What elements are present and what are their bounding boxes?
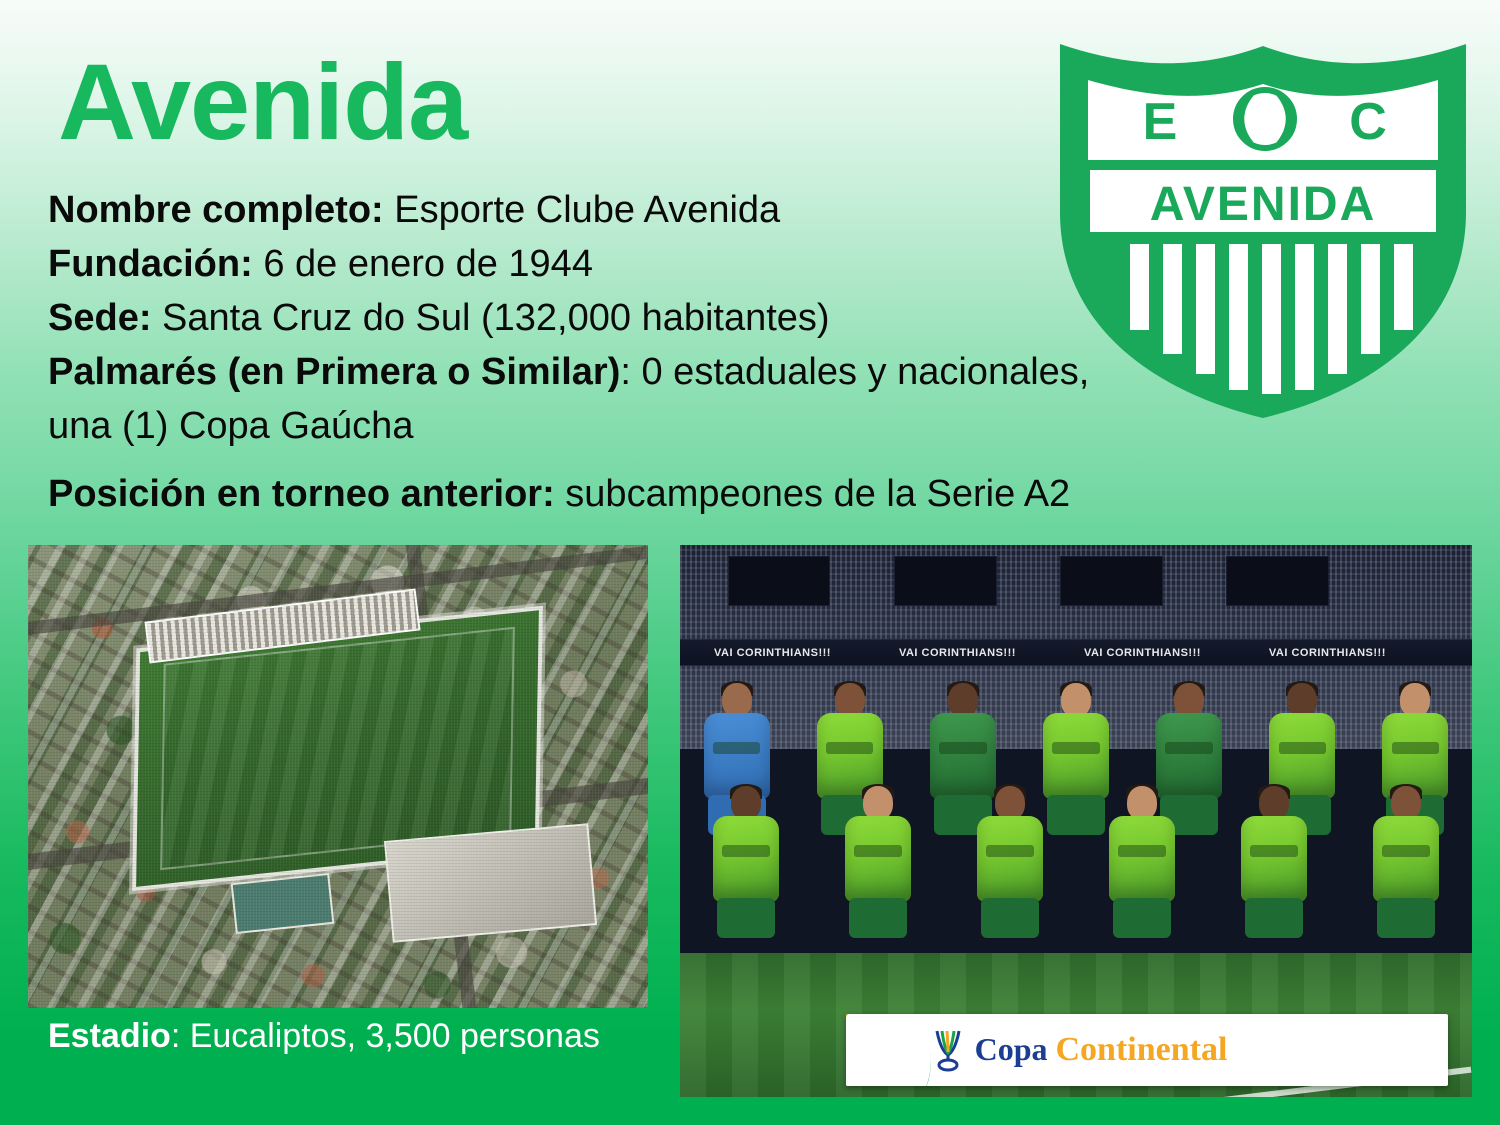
- info-value-sede: Santa Cruz do Sul (132,000 habitantes): [162, 297, 830, 339]
- info-value-nombre-completo: Esporte Clube Avenida: [394, 189, 780, 231]
- info-row-posicion: Posición en torneo anterior: subcampeone…: [48, 467, 1108, 521]
- aerial-view: [28, 545, 648, 1008]
- match-scene: VAI CORINTHIANS!!! VAI CORINTHIANS!!! VA…: [680, 545, 1472, 1097]
- stadium-caption-label: Estadio: [48, 1017, 171, 1055]
- banner-word-copa: Copa: [975, 1031, 1048, 1068]
- lineup-front-row: [680, 786, 1472, 1026]
- photo-grain: [28, 545, 648, 1008]
- banner-text: Copa Continental: [975, 1031, 1228, 1069]
- led-text: VAI CORINTHIANS!!!: [865, 647, 1050, 659]
- crest-letter-left: E: [1143, 93, 1178, 151]
- info-label-nombre-completo: Nombre completo:: [48, 189, 384, 231]
- info-value-posicion: subcampeones de la Serie A2: [565, 473, 1070, 515]
- player: [702, 786, 789, 1026]
- info-value-fundacion: 6 de enero de 1944: [263, 243, 593, 285]
- stadium-caption-value: : Eucaliptos, 3,500 personas: [171, 1017, 600, 1055]
- player: [1362, 786, 1449, 1026]
- roof-box: [1226, 556, 1329, 606]
- banner-swoosh-inner: [846, 1014, 930, 1086]
- team-lineup: [680, 683, 1472, 1025]
- led-text: VAI CORINTHIANS!!!: [1050, 647, 1235, 659]
- stadium-caption: Estadio: Eucaliptos, 3,500 personas: [48, 1014, 648, 1058]
- club-info-list: Nombre completo: Esporte Clube Avenida F…: [48, 183, 1108, 521]
- roof-box: [728, 556, 831, 606]
- trophy-icon: [931, 1021, 965, 1078]
- player: [834, 786, 921, 1026]
- info-row-palmares: Palmarés (en Primera o Similar): 0 estad…: [48, 345, 1108, 453]
- info-row-fundacion: Fundación: 6 de enero de 1944: [48, 237, 1108, 291]
- info-label-fundacion: Fundación:: [48, 243, 253, 285]
- led-text: VAI CORINTHIANS!!!: [680, 647, 865, 659]
- info-label-palmares: Palmarés (en Primera o Similar): [48, 351, 620, 393]
- info-row-nombre-completo: Nombre completo: Esporte Clube Avenida: [48, 183, 1108, 237]
- team-photo: VAI CORINTHIANS!!! VAI CORINTHIANS!!! VA…: [680, 545, 1472, 1097]
- copa-continental-banner: Copa Continental: [846, 1014, 1448, 1086]
- player: [1230, 786, 1317, 1026]
- info-row-sede: Sede: Santa Cruz do Sul (132,000 habitan…: [48, 291, 1108, 345]
- stadium-photo: [28, 545, 648, 1008]
- crest-letter-right: C: [1349, 93, 1387, 151]
- info-label-posicion: Posición en torneo anterior:: [48, 473, 555, 515]
- led-text: VAI CORINTHIANS!!!: [1235, 647, 1420, 659]
- crest-band-text: AVENIDA: [1150, 178, 1376, 231]
- roof-box: [894, 556, 997, 606]
- club-crest: E C AVENIDA: [1048, 22, 1478, 422]
- led-advertising-board: VAI CORINTHIANS!!! VAI CORINTHIANS!!! VA…: [680, 639, 1472, 667]
- player: [1098, 786, 1185, 1026]
- player: [966, 786, 1053, 1026]
- info-label-sede: Sede:: [48, 297, 151, 339]
- page-title: Avenida: [58, 48, 467, 156]
- roof-box: [1060, 556, 1163, 606]
- banner-word-continental: Continental: [1055, 1031, 1227, 1069]
